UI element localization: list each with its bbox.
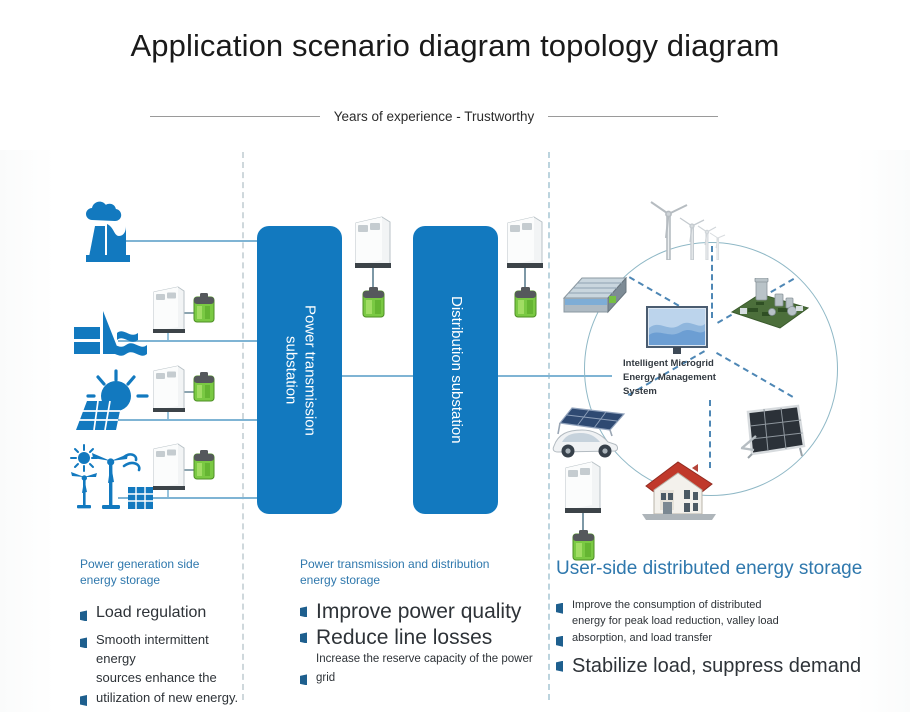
bullet-text: absorption, and load transfer: [572, 630, 712, 647]
bullet-text: Stabilize load, suppress demand: [572, 655, 861, 678]
power-transmission-substation-label: Power transmission substation: [281, 305, 319, 436]
bullet-item: Improve the consumption of distributed e…: [556, 597, 896, 630]
storage-cabinet-hydro: [148, 283, 220, 341]
bullet-item: Increase the reserve capacity of the pow…: [300, 650, 535, 687]
bullet-marker-icon: [556, 636, 563, 647]
bullet-item: Stabilize load, suppress demand: [556, 655, 896, 678]
industrial-plant-node: [730, 278, 810, 330]
link-transmission-to-distribution: [341, 375, 416, 377]
bullet-item: Smooth intermittent energy sources enhan…: [80, 631, 245, 688]
ev-carport-node: [548, 406, 632, 458]
storage-cabinet-solar: [148, 362, 220, 420]
bullet-marker-icon: [556, 603, 563, 614]
solar-power-plant-icon: [70, 368, 150, 432]
storage-cabinet-transmission: [348, 213, 398, 323]
bullet-text: Load regulation: [96, 604, 206, 622]
column-power-generation-side: Power generation side energy storage Loa…: [80, 556, 245, 708]
column-heading-user-side-distributed: User-side distributed energy storage: [556, 556, 896, 582]
bullet-item: absorption, and load transfer: [556, 630, 896, 647]
bullet-item: Improve power quality: [300, 600, 535, 624]
microgrid-hub-label: Intelligent Microgrid Energy Management …: [623, 357, 743, 398]
page-title: Application scenario diagram topology di…: [0, 28, 910, 64]
storage-cabinet-distribution: [500, 213, 550, 323]
spoke-to-house: [709, 400, 711, 468]
bullet-item: utilization of new energy.: [80, 689, 245, 708]
column-heading-power-generation-side: Power generation side energy storage: [80, 556, 245, 588]
column-user-side-distributed: User-side distributed energy storage Imp…: [556, 556, 896, 678]
thermal-power-plant-icon: [74, 200, 144, 262]
bullet-marker-icon: [80, 695, 87, 706]
subtitle-text: Years of experience - Trustworthy: [334, 109, 535, 124]
wind-solar-hybrid-plant-icon: [68, 443, 154, 509]
distribution-substation-label: Distribution substation: [446, 296, 465, 444]
subtitle-rule-left: [150, 116, 320, 117]
bullet-text: utilization of new energy.: [96, 689, 238, 708]
bullet-text: Increase the reserve capacity of the pow…: [316, 650, 533, 687]
microgrid-hub-monitor-icon: [646, 306, 708, 356]
bullet-marker-icon: [300, 632, 307, 643]
bullet-marker-icon: [556, 661, 563, 672]
bullet-marker-icon: [300, 674, 307, 685]
subtitle-row: Years of experience - Trustworthy: [150, 104, 718, 128]
residential-house-node: [640, 460, 718, 522]
battery-rack-node: [560, 272, 630, 320]
bullet-marker-icon: [300, 606, 307, 617]
solar-panel-node: [740, 398, 808, 460]
bullet-text: Improve power quality: [316, 600, 521, 624]
wind-turbines-node: [644, 198, 726, 260]
hydro-power-plant-icon: [70, 305, 148, 367]
column-power-transmission-and-distribution: Power transmission and distribution ener…: [300, 556, 535, 687]
bullet-text: Smooth intermittent energy sources enhan…: [96, 631, 245, 688]
bullet-item: Reduce line losses: [300, 626, 535, 650]
bullet-marker-icon: [80, 637, 87, 648]
bullet-marker-icon: [80, 610, 87, 621]
column-heading-power-transmission-and-distribution: Power transmission and distribution ener…: [300, 556, 535, 588]
bullet-text: Improve the consumption of distributed e…: [572, 597, 779, 630]
subtitle-rule-right: [548, 116, 718, 117]
diagram-stage: Application scenario diagram topology di…: [0, 0, 910, 712]
storage-cabinet-wind: [148, 440, 220, 498]
storage-cabinet-user-side: [558, 458, 608, 568]
bullet-text: Reduce line losses: [316, 626, 492, 650]
distribution-substation-block[interactable]: Distribution substation: [413, 226, 498, 514]
bullet-item: Load regulation: [80, 604, 245, 622]
power-transmission-substation-block[interactable]: Power transmission substation: [257, 226, 342, 514]
